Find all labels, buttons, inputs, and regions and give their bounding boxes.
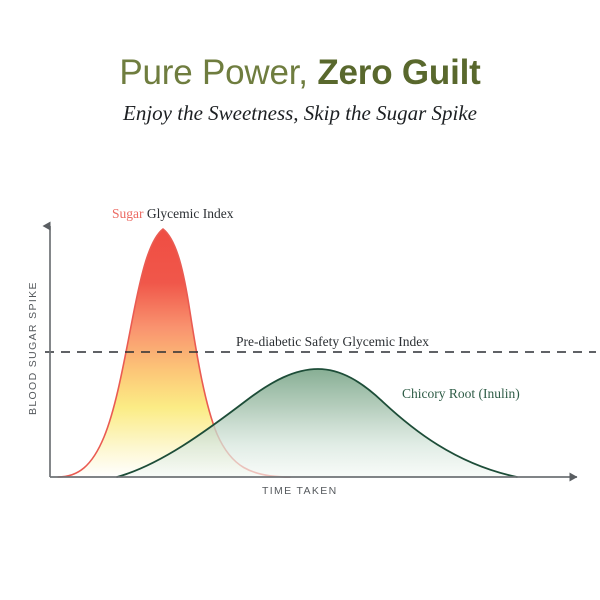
poster-root: Pure Power, Zero Guilt Enjoy the Sweetne… xyxy=(0,0,600,600)
x-axis-title: TIME TAKEN xyxy=(262,485,338,497)
sugar-series-label-highlight: Sugar xyxy=(112,206,144,221)
chart-area: BLOOD SUGAR SPIKE TIME TAKEN Sugar Glyce… xyxy=(0,0,600,600)
y-axis-title: BLOOD SUGAR SPIKE xyxy=(27,281,39,415)
threshold-label: Pre-diabetic Safety Glycemic Index xyxy=(236,334,429,349)
glycemic-index-chart: BLOOD SUGAR SPIKE TIME TAKEN Sugar Glyce… xyxy=(0,0,600,600)
sugar-series-label-rest: Glycemic Index xyxy=(144,206,234,221)
chicory-series-label: Chicory Root (Inulin) xyxy=(402,386,520,401)
sugar-series-label: Sugar Glycemic Index xyxy=(112,206,234,221)
